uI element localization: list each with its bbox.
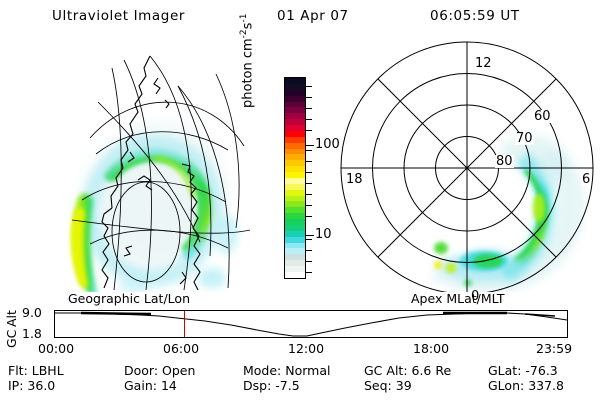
mlt-label: 12: [474, 57, 493, 70]
metadata-item: Gain: 14: [124, 378, 177, 393]
orbit-xtick-label: 23:59: [536, 341, 572, 356]
colorbar-minor-tick: [306, 119, 312, 120]
instrument-title: Ultraviolet Imager: [52, 8, 185, 24]
apex-polar-panel[interactable]: [338, 40, 600, 292]
metadata-value: Normal: [285, 363, 330, 378]
metadata-value: 39: [396, 378, 412, 393]
orbit-yaxis-label-gc: GC: [4, 330, 19, 348]
colorbar-major-tick: [306, 145, 314, 146]
colorbar-band: [285, 272, 305, 278]
metadata-item: Seq: 39: [364, 378, 412, 393]
metadata-label: Gain:: [124, 378, 161, 393]
metadata-item: Mode: Normal: [243, 363, 330, 378]
geographic-image-panel[interactable]: [38, 42, 268, 292]
colorbar-minor-tick: [306, 130, 312, 131]
observation-date: 01 Apr 07: [277, 8, 349, 24]
metadata-value: -76.3: [525, 363, 557, 378]
metadata-value: 36.0: [27, 378, 55, 393]
colorbar-axis-title: photon cm-2s-1: [239, 14, 255, 108]
uvi-display-window: Ultraviolet Imager 01 Apr 07 06:05:59 UT: [0, 0, 600, 400]
orbit-xtick-label: 00:00: [38, 341, 74, 356]
geographic-panel-caption: Geographic Lat/Lon: [68, 291, 190, 306]
metadata-item: GLon: 337.8: [488, 378, 564, 393]
metadata-label: GC Alt:: [364, 363, 412, 378]
metadata-footer: Flt: LBHLIP: 36.0Door: OpenGain: 14Mode:…: [0, 363, 600, 397]
metadata-label: Seq:: [364, 378, 396, 393]
colorbar-minor-tick: [306, 161, 312, 162]
orbit-xtick-label: 06:00: [163, 341, 199, 356]
colorbar-unit-exp1: -2: [239, 29, 249, 38]
colorbar-minor-tick: [306, 97, 312, 98]
mlt-label: 18: [345, 173, 364, 186]
metadata-item: Flt: LBHL: [8, 363, 64, 378]
geographic-aurora-image: [38, 42, 268, 292]
metadata-item: GC Alt: 6.6 Re: [364, 363, 451, 378]
metadata-label: Dsp:: [243, 378, 275, 393]
apex-panel-caption: Apex MLat/MLT: [411, 291, 505, 306]
orbit-ytick-high: 9.0: [22, 305, 42, 320]
colorbar-minor-tick: [306, 216, 312, 217]
metadata-label: GLon:: [488, 378, 528, 393]
mlat-label: 60: [533, 110, 552, 123]
metadata-label: GLat:: [488, 363, 525, 378]
metadata-label: Mode:: [243, 363, 285, 378]
orbit-yaxis-label-alt: Alt: [4, 310, 19, 327]
mlt-label: 6: [581, 173, 591, 186]
colorbar-minor-tick: [306, 250, 312, 251]
orbit-altitude-trace: [55, 311, 567, 337]
colorbar-minor-tick: [306, 86, 312, 87]
metadata-item: Dsp: -7.5: [243, 378, 300, 393]
apex-polar-aurora-plot: [338, 40, 600, 292]
colorbar-tick-label: 10: [315, 228, 332, 241]
intensity-colorbar: [284, 77, 306, 279]
colorbar-minor-tick: [306, 194, 312, 195]
colorbar-bands: [285, 78, 305, 278]
colorbar-minor-tick: [306, 261, 312, 262]
mlat-label: 80: [495, 155, 514, 168]
colorbar-minor-tick: [306, 272, 312, 273]
metadata-value: 14: [161, 378, 177, 393]
colorbar-minor-tick: [306, 183, 312, 184]
colorbar-minor-tick: [306, 108, 312, 109]
colorbar-tick-label: 100: [315, 138, 340, 151]
header-bar: Ultraviolet Imager 01 Apr 07 06:05:59 UT: [0, 8, 600, 30]
metadata-value: 6.6 Re: [412, 363, 452, 378]
mlat-label: 70: [515, 132, 534, 145]
colorbar-unit-photon: photon cm: [240, 38, 255, 108]
orbit-xtick-label: 18:00: [413, 341, 449, 356]
colorbar-unit-seconds: s: [240, 23, 255, 30]
colorbar-major-tick: [306, 235, 314, 236]
metadata-value: 337.8: [528, 378, 564, 393]
metadata-value: LBHL: [32, 363, 64, 378]
metadata-label: IP:: [8, 378, 27, 393]
orbit-xtick-label: 12:00: [288, 341, 324, 356]
metadata-label: Door:: [124, 363, 162, 378]
metadata-value: -7.5: [275, 378, 299, 393]
colorbar-minor-tick: [306, 172, 312, 173]
colorbar-minor-tick: [306, 150, 312, 151]
colorbar-minor-tick: [306, 205, 312, 206]
colorbar-minor-tick: [306, 239, 312, 240]
colorbar-unit-exp2: -1: [239, 14, 249, 23]
orbit-ytick-low: 1.8: [22, 326, 42, 341]
metadata-value: Open: [162, 363, 195, 378]
orbit-altitude-plot[interactable]: [54, 310, 568, 338]
metadata-item: GLat: -76.3: [488, 363, 558, 378]
metadata-item: Door: Open: [124, 363, 195, 378]
observation-time: 06:05:59 UT: [430, 8, 520, 24]
current-time-marker: [184, 311, 185, 337]
metadata-item: IP: 36.0: [8, 378, 55, 393]
metadata-label: Flt:: [8, 363, 32, 378]
